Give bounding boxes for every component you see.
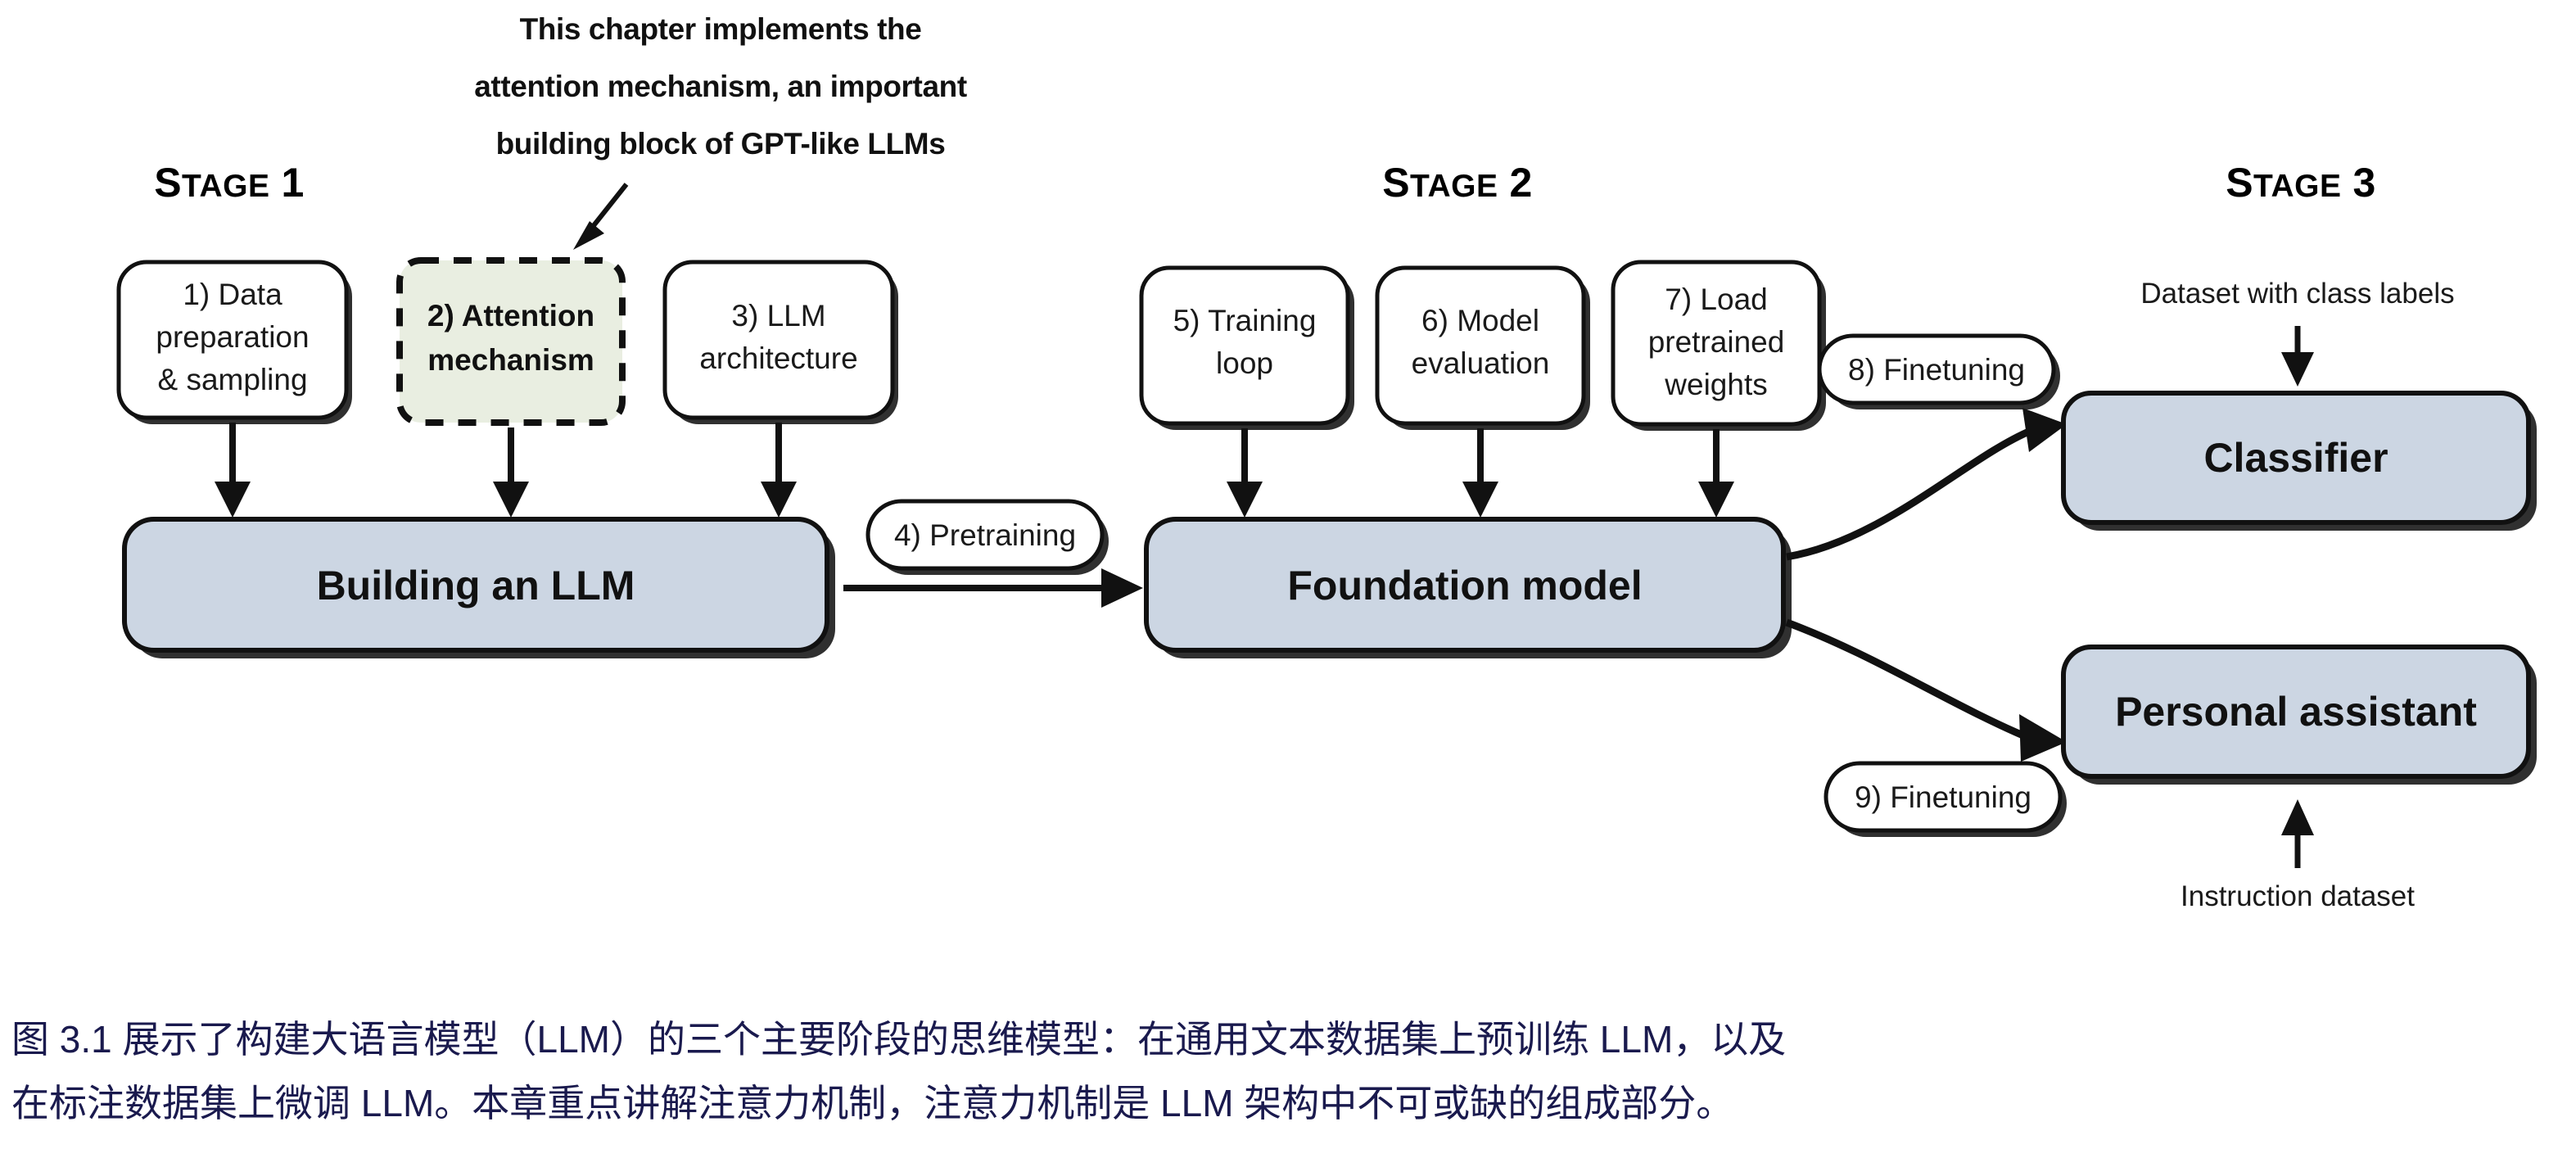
arrow-step7-to-foundation	[1698, 429, 1734, 518]
arrow-foundation-to-classifier	[1787, 408, 2067, 557]
stage-3-label-small: TAGE	[2253, 169, 2341, 204]
step-box-6[interactable]: 6) Model evaluation	[1377, 268, 1590, 430]
svg-text:STAGE2: STAGE2	[1382, 160, 1533, 206]
dataset-class-labels-label: Dataset with class labels	[2140, 278, 2454, 310]
arrow-foundation-to-personal-assistant	[1787, 622, 2067, 762]
pill-pretraining[interactable]: 4) Pretraining	[868, 501, 1109, 575]
finetuning-9-pill-label: 9) Finetuning	[1855, 780, 2031, 814]
step-box-1-line-2: preparation	[156, 320, 309, 354]
stage-3-label: STAGE3	[2226, 160, 2376, 206]
step-box-7-line-1: 7) Load	[1665, 283, 1768, 316]
figure-caption: 图 3.1 展示了构建大语言模型（LLM）的三个主要阶段的思维模型：在通用文本数…	[11, 1018, 1786, 1124]
step-box-1[interactable]: 1) Data preparation & sampling	[119, 262, 352, 424]
arrow-step3-to-building	[761, 423, 797, 518]
result-box-foundation-model[interactable]: Foundation model	[1146, 519, 1792, 658]
result-box-personal-assistant[interactable]: Personal assistant	[2063, 647, 2537, 785]
arrow-dataset-to-classifier	[2281, 326, 2314, 387]
step-box-6-line-2: evaluation	[1412, 346, 1550, 380]
building-an-llm-label: Building an LLM	[317, 563, 635, 608]
arrow-step1-to-building	[215, 423, 251, 518]
step-box-2-line-2: mechanism	[427, 343, 594, 377]
step-box-7-line-3: weights	[1664, 368, 1767, 401]
stage-3-label-cap: S	[2226, 160, 2253, 206]
step-box-5-line-1: 5) Training	[1173, 304, 1317, 337]
arrow-step5-to-foundation	[1227, 428, 1263, 518]
step-box-7-line-2: pretrained	[1648, 325, 1785, 359]
stage-2-label-cap: S	[1382, 160, 1410, 206]
foundation-model-label: Foundation model	[1287, 563, 1642, 608]
input-dataset-class-labels: Dataset with class labels	[2140, 278, 2454, 387]
stage-2-label-small: TAGE	[1410, 169, 1498, 204]
pill-finetuning-9[interactable]: 9) Finetuning	[1826, 763, 2067, 837]
stage-3-label-num: 3	[2353, 160, 2376, 206]
step-box-3[interactable]: 3) LLM architecture	[665, 262, 898, 424]
stage-2-label: STAGE2	[1382, 160, 1533, 206]
result-box-building-an-llm[interactable]: Building an LLM	[124, 519, 835, 658]
step-box-5-frame	[1141, 268, 1348, 423]
stage-1-label-num: 1	[282, 160, 305, 206]
arrow-instruction-to-personal-assistant	[2281, 799, 2314, 868]
step-box-6-line-1: 6) Model	[1421, 304, 1539, 337]
svg-text:STAGE1: STAGE1	[154, 160, 305, 206]
step-box-3-line-2: architecture	[699, 342, 857, 375]
personal-assistant-label: Personal assistant	[2115, 689, 2477, 735]
finetuning-8-pill-label: 8) Finetuning	[1848, 353, 2025, 387]
callout-line-3: building block of GPT-like LLMs	[496, 127, 946, 161]
pill-finetuning-8[interactable]: 8) Finetuning	[1819, 336, 2060, 409]
figure-root: This chapter implements the attention me…	[0, 0, 2576, 1158]
step-box-2-attention[interactable]: 2) Attention mechanism	[400, 260, 622, 423]
svg-text:STAGE3: STAGE3	[2226, 160, 2376, 206]
stage-2-label-num: 2	[1510, 160, 1533, 206]
callout-arrow-icon	[573, 184, 626, 250]
step-box-3-line-1: 3) LLM	[731, 299, 825, 332]
result-box-classifier[interactable]: Classifier	[2063, 393, 2537, 531]
step-box-5[interactable]: 5) Training loop	[1141, 268, 1354, 430]
step-box-3-frame	[665, 262, 893, 418]
caption-line-2: 在标注数据集上微调 LLM。本章重点讲解注意力机制，注意力机制是 LLM 架构中…	[11, 1082, 1733, 1124]
step-box-5-line-2: loop	[1216, 346, 1273, 380]
arrow-step2-to-building	[493, 427, 529, 518]
step-box-1-line-1: 1) Data	[183, 278, 282, 311]
chapter-callout: This chapter implements the attention me…	[474, 12, 967, 250]
llm-stages-diagram: This chapter implements the attention me…	[0, 0, 2576, 1158]
instruction-dataset-label: Instruction dataset	[2181, 880, 2415, 912]
caption-line-1: 图 3.1 展示了构建大语言模型（LLM）的三个主要阶段的思维模型：在通用文本数…	[11, 1018, 1786, 1061]
step-box-2-fill	[400, 260, 622, 423]
step-box-2-line-1: 2) Attention	[427, 299, 594, 332]
stage-1-label-cap: S	[154, 160, 182, 206]
step-box-6-frame	[1377, 268, 1584, 423]
arrow-step6-to-foundation	[1462, 428, 1498, 518]
stage-1-label: STAGE1	[154, 160, 305, 206]
pretraining-pill-label: 4) Pretraining	[894, 518, 1076, 552]
stage-1-label-small: TAGE	[182, 169, 269, 204]
step-box-1-line-3: & sampling	[157, 363, 307, 396]
callout-line-2: attention mechanism, an important	[474, 70, 967, 103]
classifier-label: Classifier	[2203, 435, 2388, 481]
step-box-7[interactable]: 7) Load pretrained weights	[1613, 262, 1826, 431]
input-instruction-dataset: Instruction dataset	[2181, 799, 2415, 912]
callout-line-1: This chapter implements the	[520, 12, 922, 46]
